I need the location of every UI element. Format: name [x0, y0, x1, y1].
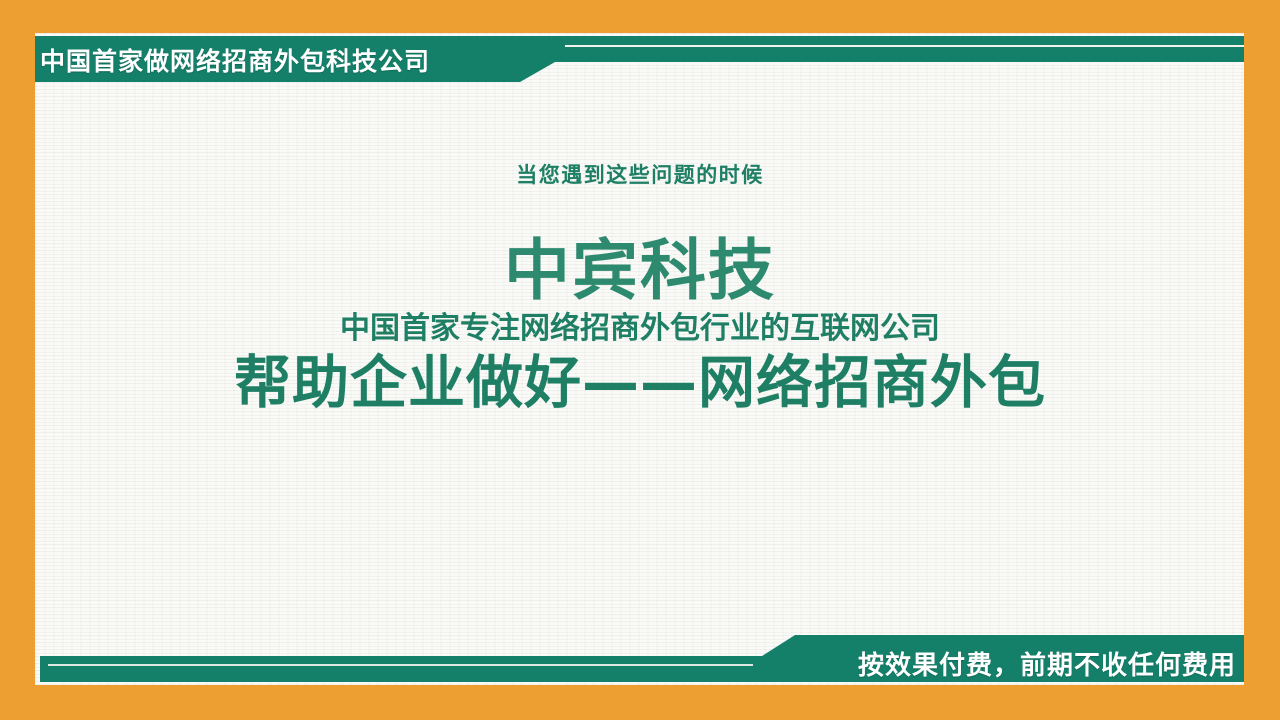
slide-root: 中国首家做网络招商外包科技公司 按效果付费，前期不收任何费用 当您遇到这些问题的…: [0, 0, 1280, 720]
slide-content: 当您遇到这些问题的时候 中宾科技 中国首家专注网络招商外包行业的互联网公司 帮助…: [0, 0, 1280, 720]
eyebrow-text: 当您遇到这些问题的时候: [516, 165, 764, 186]
brand-subtitle: 中国首家专注网络招商外包行业的互联网公司: [340, 314, 940, 344]
main-tagline: 帮助企业做好——网络招商外包: [234, 354, 1046, 414]
brand-title: 中宾科技: [504, 238, 776, 304]
